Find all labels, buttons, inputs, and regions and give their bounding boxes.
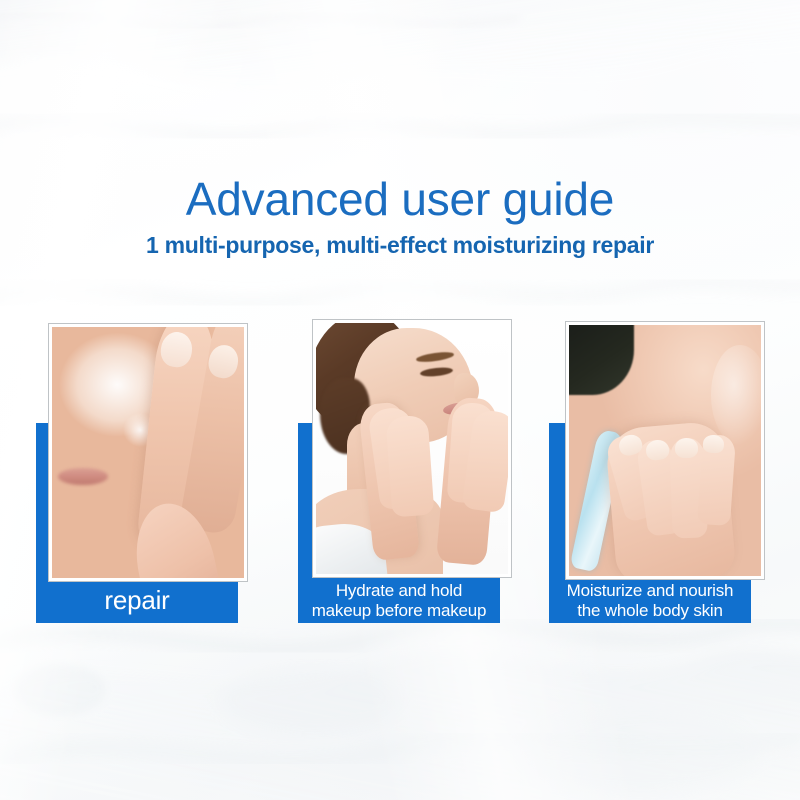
fingernail-shape — [675, 438, 698, 458]
dark-background-shape — [569, 325, 634, 395]
promo-poster: Advanced user guide 1 multi-purpose, mul… — [0, 0, 800, 800]
card-3-caption-line-2: the whole body skin — [577, 601, 723, 620]
card-3-photo-frame — [566, 322, 764, 579]
feature-card-3: Moisturize and nourish the whole body sk… — [0, 0, 800, 800]
skin-highlight — [711, 345, 761, 445]
card-3-caption: Moisturize and nourish the whole body sk… — [549, 578, 751, 623]
card-3-caption-line-1: Moisturize and nourish — [567, 581, 734, 600]
card-3-photo — [569, 325, 761, 576]
